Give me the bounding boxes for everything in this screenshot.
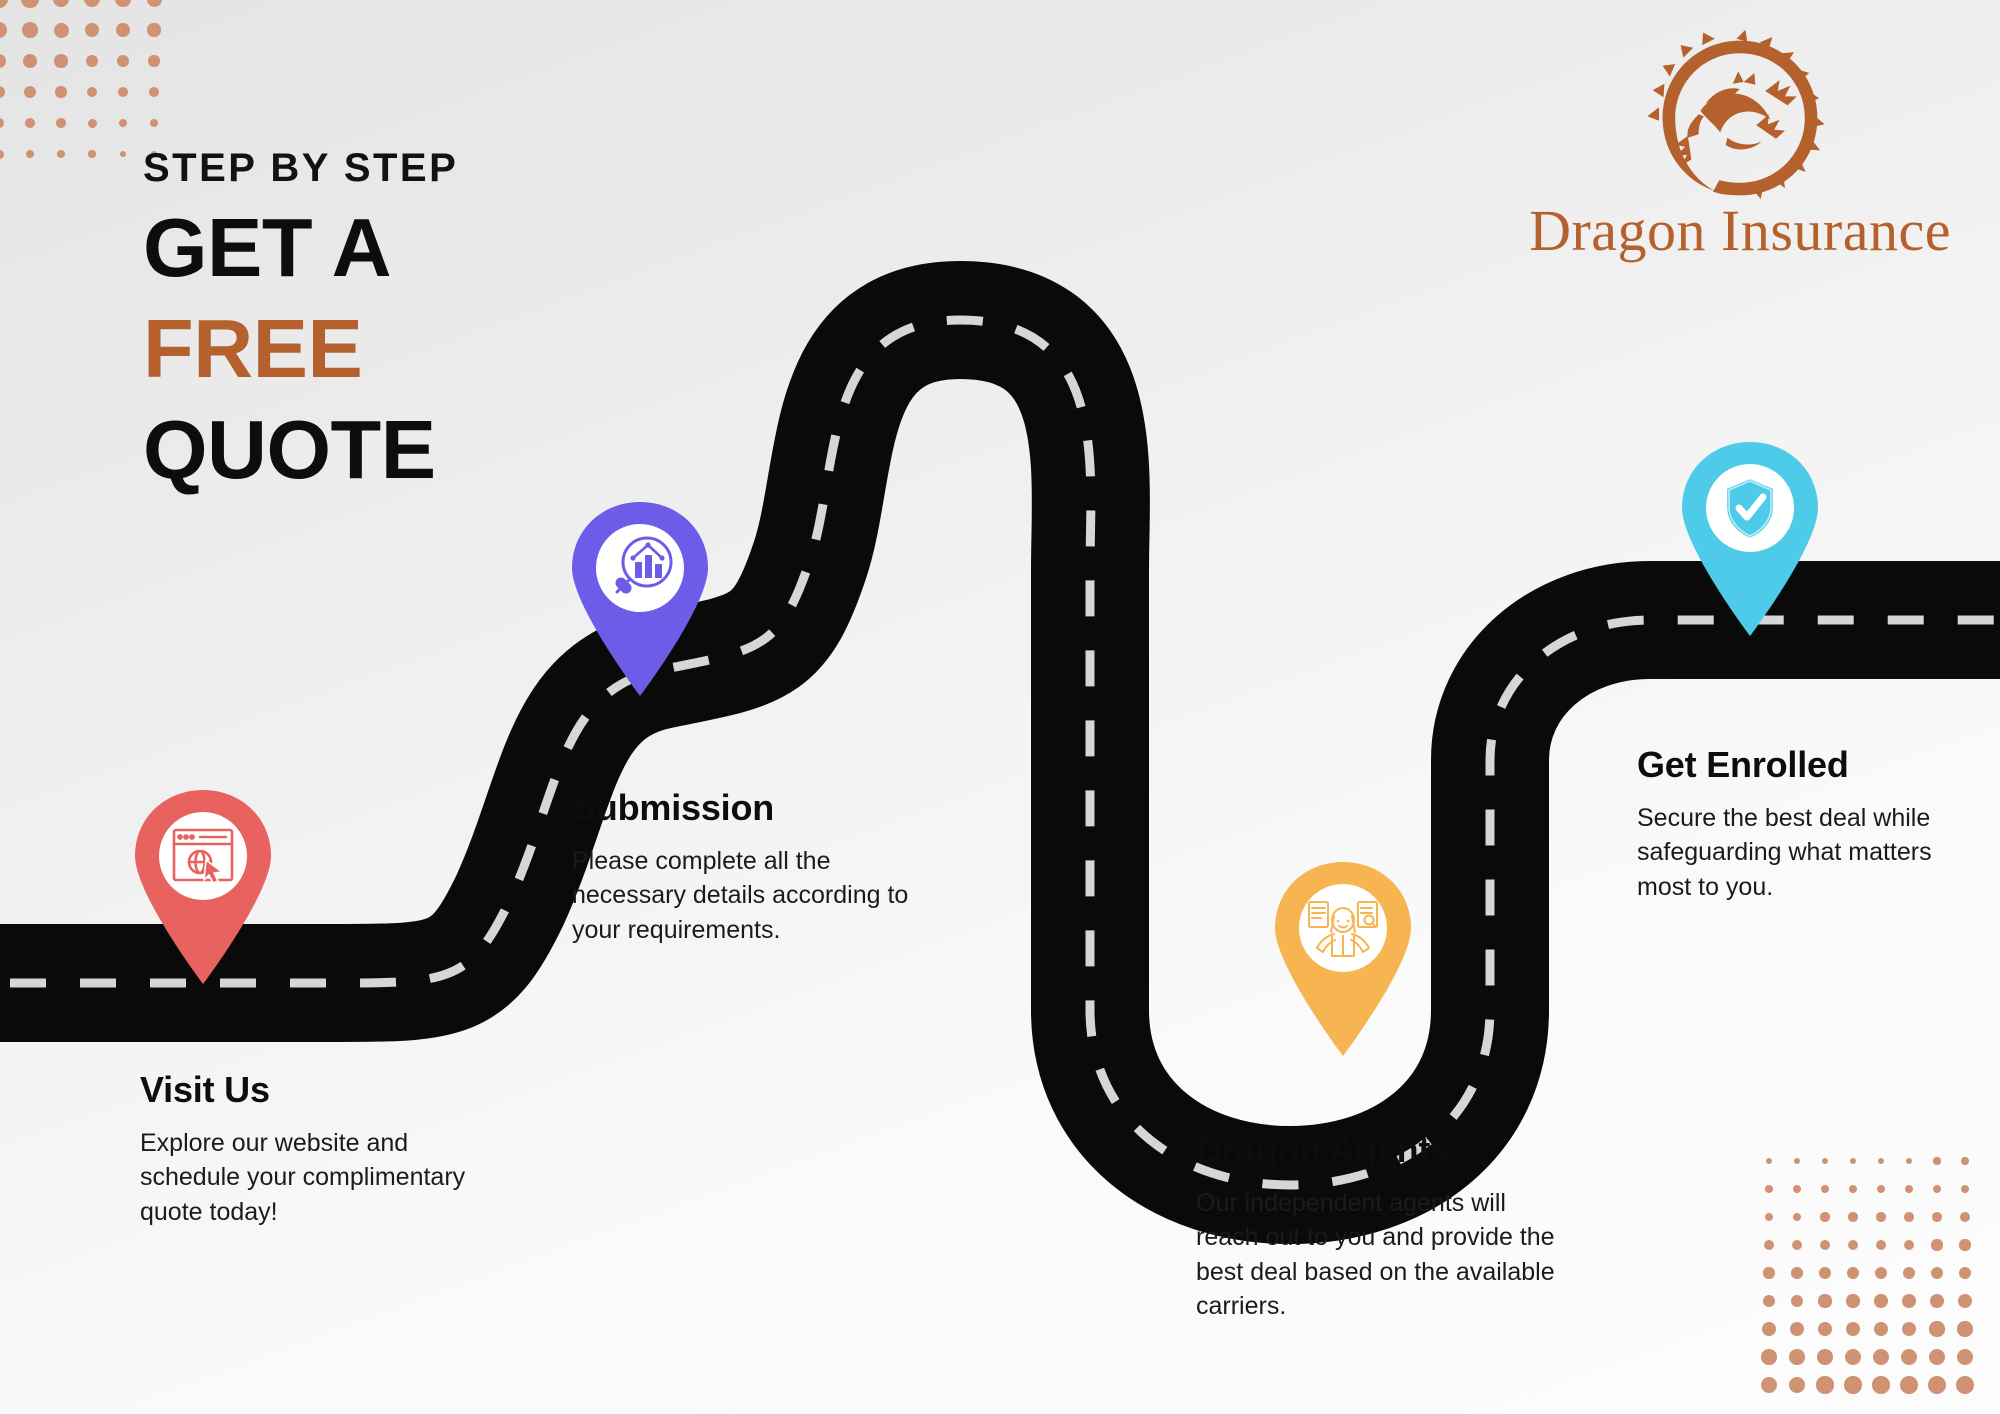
decorative-dot <box>1876 1212 1885 1221</box>
map-pin-get-enrolled[interactable] <box>1675 440 1825 640</box>
decorative-dot <box>1848 1212 1857 1221</box>
headline-group: STEP BY STEP GET A FREE QUOTE <box>143 148 663 509</box>
decorative-dot <box>1818 1294 1831 1307</box>
decorative-dot <box>0 22 7 38</box>
decorative-dot <box>115 0 131 7</box>
decorative-dot <box>1765 1185 1772 1192</box>
map-pin-submission[interactable] <box>565 500 715 700</box>
decorative-dot <box>147 0 162 7</box>
decorative-dot <box>86 55 99 68</box>
decorative-dot <box>0 150 4 159</box>
decorative-dot <box>1904 1240 1915 1251</box>
decorative-dot <box>1793 1213 1802 1222</box>
decorative-dot <box>1959 1267 1972 1280</box>
decorative-dot <box>1765 1213 1774 1222</box>
decorative-dot <box>1846 1294 1859 1307</box>
step-title-get-enrolled: Get Enrolled <box>1637 745 1967 785</box>
decorative-dot <box>1903 1267 1915 1279</box>
decorative-dot <box>1818 1322 1832 1336</box>
decorative-dot <box>1933 1185 1941 1193</box>
step-description-visit-us: Explore our website and schedule your co… <box>140 1126 470 1230</box>
step-description-dragon-agents: Our independent agents will reach out to… <box>1196 1186 1566 1324</box>
map-pin-visit-us[interactable] <box>128 788 278 988</box>
decorative-dot <box>1877 1185 1885 1193</box>
decorative-dot <box>116 23 130 37</box>
step-block-dragon-agents: Dragon Agents Our independent agents wil… <box>1196 1130 1566 1324</box>
decorative-dot <box>1875 1267 1887 1279</box>
step-block-visit-us: Visit Us Explore our website and schedul… <box>140 1070 470 1229</box>
decorative-dot <box>0 86 5 99</box>
decorative-dot <box>1762 1322 1776 1336</box>
decorative-dot <box>54 54 67 67</box>
decorative-dot <box>23 54 37 68</box>
headline-line-1: GET A <box>143 206 663 289</box>
brand-wordmark: Dragon Insurance <box>1520 202 1960 260</box>
decorative-dot <box>56 118 66 128</box>
decorative-dot <box>1761 1377 1778 1394</box>
step-block-submission: Submission Please complete all the neces… <box>572 788 932 947</box>
decorative-dot <box>1872 1376 1889 1393</box>
pin-shape-cyan <box>1675 440 1825 640</box>
decorative-dot <box>1929 1321 1944 1336</box>
decorative-dot <box>1821 1185 1829 1193</box>
decorative-dot <box>0 54 6 68</box>
decorative-dot <box>1931 1239 1942 1250</box>
decorative-dot <box>1874 1294 1887 1307</box>
step-description-submission: Please complete all the necessary detail… <box>572 844 932 948</box>
decorative-dot <box>25 118 35 128</box>
decorative-dot <box>88 119 97 128</box>
decorative-dot <box>1763 1267 1774 1278</box>
decorative-dot-grid-bottom-right <box>1760 1152 1990 1402</box>
decorative-dot <box>22 22 38 38</box>
step-description-get-enrolled: Secure the best deal while safeguarding … <box>1637 801 1967 905</box>
decorative-dot <box>1961 1185 1970 1194</box>
decorative-dot <box>1848 1240 1859 1251</box>
decorative-dot <box>1791 1295 1804 1308</box>
decorative-dot <box>1850 1158 1857 1165</box>
decorative-dot <box>87 87 98 98</box>
decorative-dot <box>148 55 159 66</box>
decorative-dot <box>1906 1158 1913 1165</box>
map-pin-dragon-agents[interactable] <box>1268 860 1418 1060</box>
decorative-dot <box>1764 1240 1774 1250</box>
decorative-dot <box>117 55 129 67</box>
decorative-dot <box>1930 1294 1944 1308</box>
decorative-dot <box>150 119 158 127</box>
decorative-dot <box>24 86 36 98</box>
decorative-dot <box>1957 1349 1974 1366</box>
decorative-dot <box>85 23 99 37</box>
decorative-dot <box>1958 1294 1972 1308</box>
decorative-dot <box>1789 1377 1806 1394</box>
decorative-dot <box>1902 1294 1916 1308</box>
decorative-dot <box>1817 1349 1833 1365</box>
decorative-dot <box>1961 1157 1968 1164</box>
brand-logo-block: Dragon Insurance <box>1520 28 1960 260</box>
decorative-dot <box>0 118 4 129</box>
decorative-dot <box>1793 1185 1801 1193</box>
decorative-dot <box>1849 1185 1857 1193</box>
decorative-dot <box>1902 1322 1917 1337</box>
decorative-dot <box>1929 1349 1945 1365</box>
decorative-dot <box>1928 1376 1946 1394</box>
headline-line-2-accent: FREE <box>143 307 663 390</box>
step-title-visit-us: Visit Us <box>140 1070 470 1110</box>
decorative-dot <box>1844 1376 1861 1393</box>
decorative-dot <box>1960 1212 1970 1222</box>
decorative-dot <box>1789 1349 1805 1365</box>
pin-shape-red <box>128 788 278 988</box>
decorative-dot <box>118 87 128 97</box>
decorative-dot <box>1792 1240 1802 1250</box>
decorative-dot <box>1791 1267 1803 1279</box>
decorative-dot <box>147 23 160 36</box>
decorative-dot <box>53 0 70 7</box>
decorative-dot <box>26 150 34 158</box>
decorative-dot <box>1790 1322 1804 1336</box>
decorative-dot <box>1957 1321 1972 1336</box>
decorative-dot <box>1845 1349 1861 1365</box>
decorative-dot <box>1874 1322 1889 1337</box>
decorative-dot <box>1932 1212 1942 1222</box>
decorative-dot <box>1901 1349 1917 1365</box>
decorative-dot <box>1822 1158 1828 1164</box>
decorative-dot <box>1904 1212 1914 1222</box>
decorative-dot <box>1876 1240 1887 1251</box>
decorative-dot <box>1878 1158 1885 1165</box>
decorative-dot <box>1761 1349 1776 1364</box>
pin-shape-yellow <box>1268 860 1418 1060</box>
infographic-canvas: STEP BY STEP GET A FREE QUOTE <box>0 0 2000 1414</box>
decorative-dot <box>1846 1322 1861 1337</box>
decorative-dot <box>1819 1267 1831 1279</box>
decorative-dot <box>1820 1212 1829 1221</box>
dragon-circle-icon <box>1635 28 1845 208</box>
step-block-get-enrolled: Get Enrolled Secure the best deal while … <box>1637 745 1967 904</box>
decorative-dot <box>149 87 159 97</box>
headline-line-3: QUOTE <box>143 408 663 491</box>
decorative-dot <box>57 150 65 158</box>
step-title-dragon-agents: Dragon Agents <box>1196 1130 1566 1170</box>
decorative-dot-grid-top-left <box>0 0 170 150</box>
decorative-dot <box>1900 1376 1918 1394</box>
decorative-dot <box>1931 1267 1943 1279</box>
decorative-dot <box>1847 1267 1859 1279</box>
decorative-dot <box>1794 1158 1800 1164</box>
decorative-dot <box>1933 1157 1940 1164</box>
decorative-dot <box>1820 1240 1830 1250</box>
decorative-dot <box>84 0 100 7</box>
decorative-dot <box>1873 1349 1889 1365</box>
decorative-dot <box>1905 1185 1913 1193</box>
decorative-dot <box>120 151 127 158</box>
decorative-dot <box>54 23 69 38</box>
step-title-submission: Submission <box>572 788 932 828</box>
decorative-dot <box>119 119 127 127</box>
decorative-dot <box>1763 1295 1776 1308</box>
pin-shape-purple <box>565 500 715 700</box>
decorative-dot <box>55 86 66 97</box>
decorative-dot <box>1816 1376 1833 1393</box>
decorative-dot <box>1766 1158 1772 1164</box>
eyebrow-text: STEP BY STEP <box>143 148 663 188</box>
decorative-dot <box>0 0 8 8</box>
decorative-dot <box>1959 1239 1970 1250</box>
decorative-dot <box>88 150 95 157</box>
decorative-dot <box>1956 1376 1974 1394</box>
decorative-dot <box>21 0 38 8</box>
